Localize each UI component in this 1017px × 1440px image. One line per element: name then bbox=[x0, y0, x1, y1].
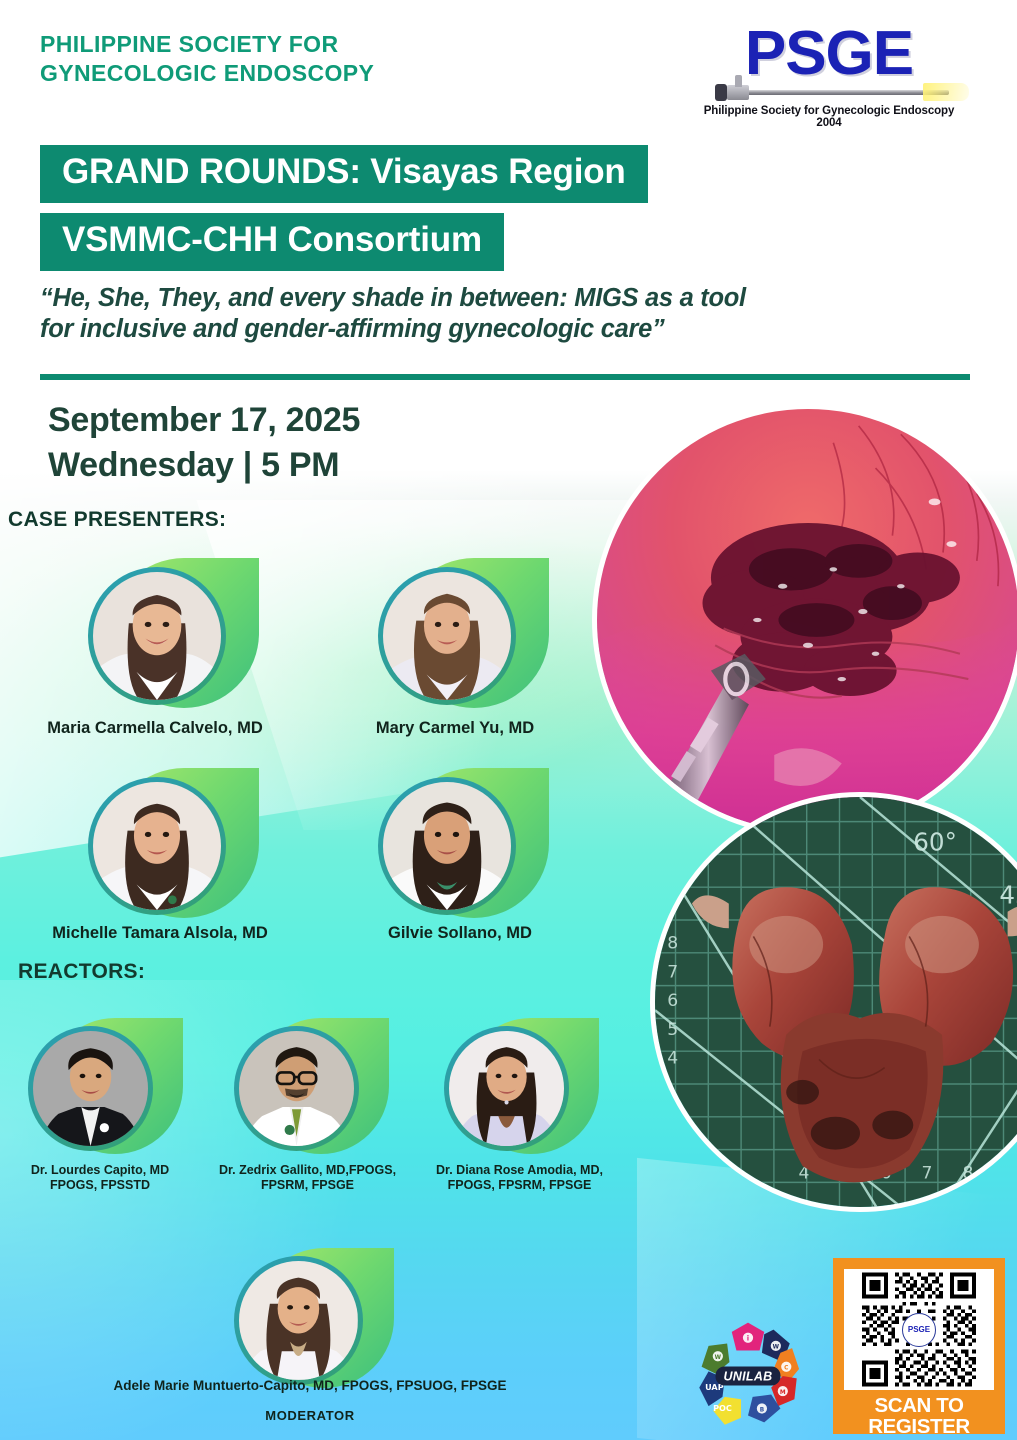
moderator-portrait bbox=[234, 1248, 374, 1388]
poster-header: PHILIPPINE SOCIETY FOR GYNECOLOGIC ENDOS… bbox=[40, 30, 980, 140]
reactor-name-2-line1: Dr. Zedrix Gallito, MD,FPOGS, bbox=[200, 1163, 415, 1178]
title-line-2: VSMMC-CHH Consortium bbox=[40, 213, 504, 271]
portrait-ring bbox=[234, 1256, 363, 1385]
portrait-ring bbox=[378, 567, 516, 705]
avatar bbox=[93, 572, 221, 700]
laparoscopy-image bbox=[592, 404, 1017, 836]
reactor-portrait-2 bbox=[234, 1018, 370, 1154]
section-label-reactors: REACTORS: bbox=[18, 960, 145, 984]
portrait-ring bbox=[88, 567, 226, 705]
event-date: September 17, 2025 bbox=[48, 398, 568, 443]
avatar bbox=[383, 572, 511, 700]
unilab-wordmark: UNILAB bbox=[715, 1367, 780, 1386]
svg-text:POC: POC bbox=[713, 1403, 732, 1413]
avatar bbox=[33, 1031, 148, 1146]
qr-center-logo: PSGE bbox=[902, 1313, 936, 1347]
reactor-name-3-line1: Dr. Diana Rose Amodia, MD, bbox=[412, 1163, 627, 1178]
psge-logo: PSGE Philippine Society for Gynecologic … bbox=[693, 25, 965, 133]
event-daytime: Wednesday | 5 PM bbox=[48, 443, 568, 488]
svg-text:5: 5 bbox=[667, 1020, 678, 1040]
svg-text:B: B bbox=[760, 1407, 765, 1413]
qr-register-block[interactable]: PSGE SCAN TO REGISTER bbox=[833, 1258, 1005, 1434]
avatar bbox=[383, 782, 511, 910]
presenter-portrait-3 bbox=[88, 768, 238, 918]
svg-text:4: 4 bbox=[667, 1049, 678, 1069]
presenter-name-3: Michelle Tamara Alsola, MD bbox=[0, 923, 320, 943]
portrait-ring bbox=[28, 1026, 153, 1151]
reactor-portrait-1 bbox=[28, 1018, 164, 1154]
reactor-name-2-line2: FPSRM, FPSGE bbox=[200, 1178, 415, 1193]
endoscope-icon bbox=[693, 81, 965, 103]
svg-text:45°: 45° bbox=[999, 881, 1017, 910]
moderator-name: Adele Marie Muntuerto-Capito, MD, FPOGS,… bbox=[0, 1378, 620, 1394]
svg-text:7: 7 bbox=[667, 962, 678, 982]
section-label-case-presenters: CASE PRESENTERS: bbox=[8, 508, 226, 532]
qr-code[interactable]: PSGE bbox=[844, 1269, 994, 1390]
svg-text:W: W bbox=[773, 1345, 780, 1351]
portrait-ring bbox=[444, 1026, 569, 1151]
presenter-name-2: Mary Carmel Yu, MD bbox=[300, 718, 610, 738]
divider-rule bbox=[40, 374, 970, 380]
event-datetime: September 17, 2025 Wednesday | 5 PM bbox=[48, 398, 568, 488]
avatar bbox=[239, 1261, 358, 1380]
poster-canvas: PHILIPPINE SOCIETY FOR GYNECOLOGIC ENDOS… bbox=[0, 0, 1017, 1440]
reactor-name-3: Dr. Diana Rose Amodia, MD, FPOGS, FPSRM,… bbox=[412, 1163, 627, 1194]
svg-text:M: M bbox=[780, 1390, 786, 1396]
avatar bbox=[93, 782, 221, 910]
svg-text:C: C bbox=[784, 1366, 788, 1372]
reactor-name-3-line2: FPOGS, FPSRM, FPSGE bbox=[412, 1178, 627, 1193]
reactor-portrait-3 bbox=[444, 1018, 580, 1154]
title-subtitle: “He, She, They, and every shade in betwe… bbox=[40, 283, 970, 345]
reactor-name-2: Dr. Zedrix Gallito, MD,FPOGS, FPSRM, FPS… bbox=[200, 1163, 415, 1194]
portrait-ring bbox=[234, 1026, 359, 1151]
qr-caption: SCAN TO REGISTER bbox=[844, 1390, 994, 1437]
reactor-name-1-line2: FPOGS, FPSSTD bbox=[0, 1178, 200, 1193]
psge-logo-wordmark: PSGE bbox=[693, 25, 965, 84]
title-subtitle-line1: “He, She, They, and every shade in betwe… bbox=[40, 283, 970, 314]
svg-text:i: i bbox=[747, 1335, 749, 1343]
presenter-name-4: Gilvie Sollano, MD bbox=[300, 923, 620, 943]
psge-logo-tagline: Philippine Society for Gynecologic Endos… bbox=[693, 105, 965, 129]
avatar bbox=[449, 1031, 564, 1146]
svg-text:W: W bbox=[715, 1355, 722, 1361]
svg-text:60°: 60° bbox=[913, 827, 957, 856]
unilab-sponsor-logo: POC UAP i W C M B W UNILAB bbox=[690, 1318, 806, 1434]
svg-text:6: 6 bbox=[667, 991, 678, 1011]
portrait-ring bbox=[378, 777, 516, 915]
presenter-name-1: Maria Carmella Calvelo, MD bbox=[0, 718, 310, 738]
moderator-role-label: MODERATOR bbox=[0, 1408, 620, 1424]
title-line-1: GRAND ROUNDS: Visayas Region bbox=[40, 145, 648, 203]
svg-text:7: 7 bbox=[922, 1163, 933, 1183]
reactor-name-1-line1: Dr. Lourdes Capito, MD bbox=[0, 1163, 200, 1178]
svg-text:8: 8 bbox=[667, 934, 678, 954]
presenter-portrait-2 bbox=[378, 558, 528, 708]
reactor-name-1: Dr. Lourdes Capito, MD FPOGS, FPSSTD bbox=[0, 1163, 200, 1194]
avatar bbox=[239, 1031, 354, 1146]
title-subtitle-line2: for inclusive and gender-affirming gynec… bbox=[40, 314, 970, 345]
portrait-ring bbox=[88, 777, 226, 915]
presenter-portrait-4 bbox=[378, 768, 528, 918]
presenter-portrait-1 bbox=[88, 558, 238, 708]
